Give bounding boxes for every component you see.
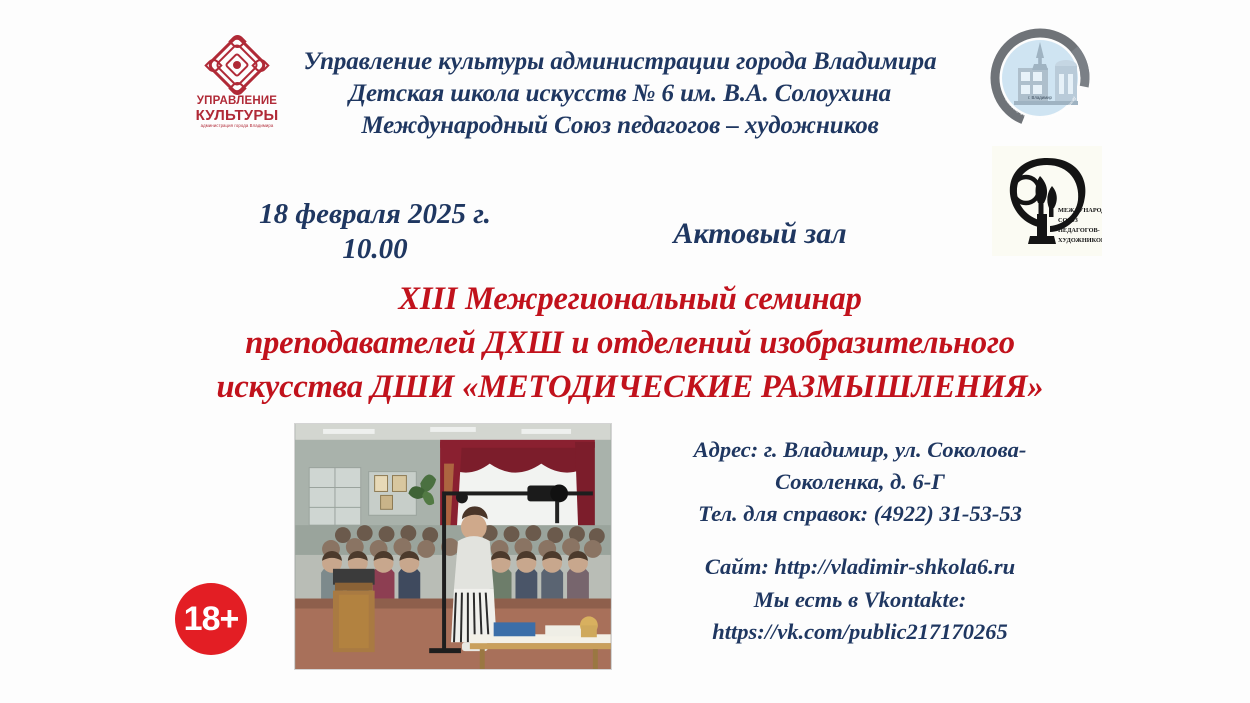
website-line[interactable]: Сайт: http://vladimir-shkola6.ru bbox=[640, 551, 1080, 584]
seminar-title-line-1: XIII Межрегиональный семинар bbox=[130, 277, 1130, 321]
seminar-title-line-3: искусства ДШИ «МЕТОДИЧЕСКИЕ РАЗМЫШЛЕНИЯ» bbox=[130, 365, 1130, 409]
upravlenie-kultury-wordmark: УПРАВЛЕНИЕ КУЛЬТУРЫ администрация города… bbox=[189, 96, 285, 128]
school-emblem-icon: г. Владимир Детская школа искусств № 6 и… bbox=[990, 28, 1090, 128]
seminar-title: XIII Межрегиональный семинар преподавате… bbox=[130, 277, 1130, 410]
address-line-2: Соколенка, д. 6-Г bbox=[640, 466, 1080, 498]
event-date-block: 18 февраля 2025 г. 10.00 bbox=[215, 197, 535, 268]
kultura-line-2: КУЛЬТУРЫ bbox=[189, 108, 285, 123]
tree-brush-icon: МЕЖДУНАРОДНЫЙ СОЮЗ ПЕДАГОГОВ- ХУДОЖНИКОВ bbox=[992, 146, 1102, 256]
union-line-4: ХУДОЖНИКОВ bbox=[1058, 237, 1102, 244]
kultura-line-3: администрация города Владимира bbox=[189, 124, 285, 128]
vk-intro-line: Мы есть в Vkontakte: bbox=[640, 584, 1080, 617]
poster-canvas: УПРАВЛЕНИЕ КУЛЬТУРЫ администрация города… bbox=[0, 0, 1250, 703]
event-venue: Актовый зал bbox=[620, 217, 900, 251]
address-line-1: Адрес: г. Владимир, ул. Соколова- bbox=[640, 434, 1080, 466]
seminar-photo-illustration bbox=[295, 424, 611, 669]
phone-line: Тел. для справок: (4922) 31-53-53 bbox=[640, 498, 1080, 530]
upravlenie-kultury-logo: УПРАВЛЕНИЕ КУЛЬТУРЫ администрация города… bbox=[189, 36, 285, 122]
event-time: 10.00 bbox=[215, 232, 535, 267]
ornament-star-icon bbox=[207, 36, 267, 94]
organiser-line-2: Детская школа искусств № 6 им. В.А. Соло… bbox=[300, 78, 940, 110]
organiser-line-3: Международный Союз педагогов – художнико… bbox=[300, 110, 940, 142]
vk-link[interactable]: https://vk.com/public217170265 bbox=[640, 616, 1080, 649]
seminar-title-line-2: преподавателей ДХШ и отделений изобразит… bbox=[130, 321, 1130, 365]
seminar-audience-photo bbox=[294, 423, 612, 670]
union-line-3: ПЕДАГОГОВ- bbox=[1058, 227, 1100, 234]
event-date: 18 февраля 2025 г. bbox=[215, 197, 535, 232]
organisers-header: Управление культуры администрации города… bbox=[300, 46, 940, 142]
contacts-address-block: Адрес: г. Владимир, ул. Соколова- Соколе… bbox=[640, 434, 1080, 530]
organiser-line-1: Управление культуры администрации города… bbox=[300, 46, 940, 78]
age-restriction-badge: 18+ bbox=[175, 583, 247, 655]
school-emblem-city-caption: г. Владимир bbox=[1028, 95, 1052, 100]
kultura-line-1: УПРАВЛЕНИЕ bbox=[189, 96, 285, 108]
union-of-teachers-artists-logo: МЕЖДУНАРОДНЫЙ СОЮЗ ПЕДАГОГОВ- ХУДОЖНИКОВ bbox=[992, 146, 1102, 256]
union-line-2: СОЮЗ bbox=[1058, 217, 1079, 224]
school-emblem: г. Владимир Детская школа искусств № 6 и… bbox=[990, 28, 1090, 128]
union-line-1: МЕЖДУНАРОДНЫЙ bbox=[1058, 206, 1102, 214]
contacts-web-block: Сайт: http://vladimir-shkola6.ru Мы есть… bbox=[640, 551, 1080, 649]
